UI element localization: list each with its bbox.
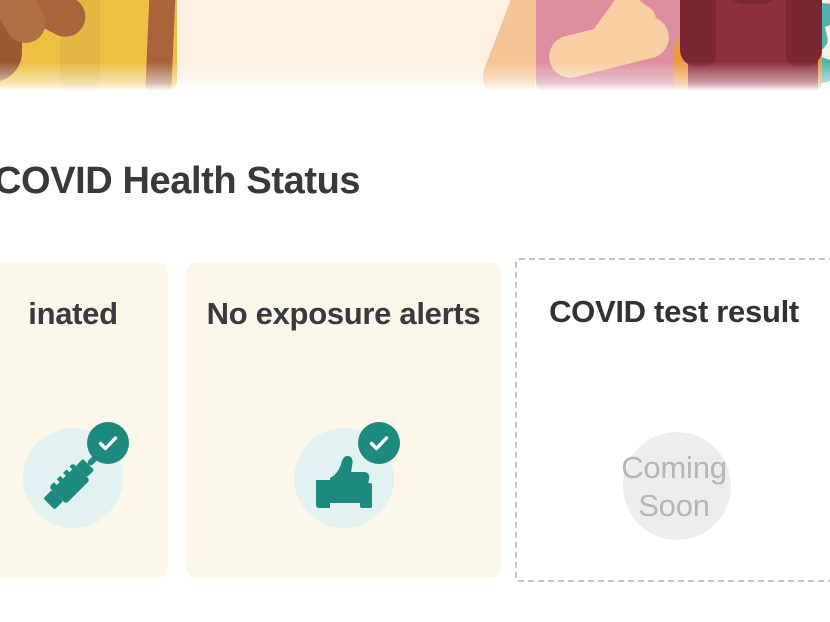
person-maroon-shirt-sleeve-left xyxy=(680,0,716,66)
exposure-icon-group xyxy=(294,428,394,528)
coming-soon-status-text: Coming Soon xyxy=(599,449,749,526)
header-illustration-banner xyxy=(0,0,830,91)
check-badge-icon xyxy=(358,422,400,464)
page-title: COVID Health Status xyxy=(0,160,614,203)
status-card-covid-test-result-label: COVID test result xyxy=(535,294,813,331)
coming-soon-group: Coming Soon xyxy=(599,428,749,546)
vaccinated-icon-group xyxy=(23,428,123,528)
status-card-exposure-alerts[interactable]: No exposure alerts xyxy=(186,262,501,578)
status-card-exposure-alerts-label: No exposure alerts xyxy=(193,296,495,333)
status-card-covid-test-result[interactable]: COVID test result Coming Soon xyxy=(515,258,830,582)
status-card-vaccinated-label: inated xyxy=(14,296,132,333)
banner-fade-overlay xyxy=(0,62,830,91)
person-maroon-shirt-sleeve-right xyxy=(786,0,822,66)
status-card-vaccinated[interactable]: inated xyxy=(0,262,168,578)
check-badge-icon xyxy=(87,422,129,464)
status-card-row: inated No exposur xyxy=(0,262,830,578)
